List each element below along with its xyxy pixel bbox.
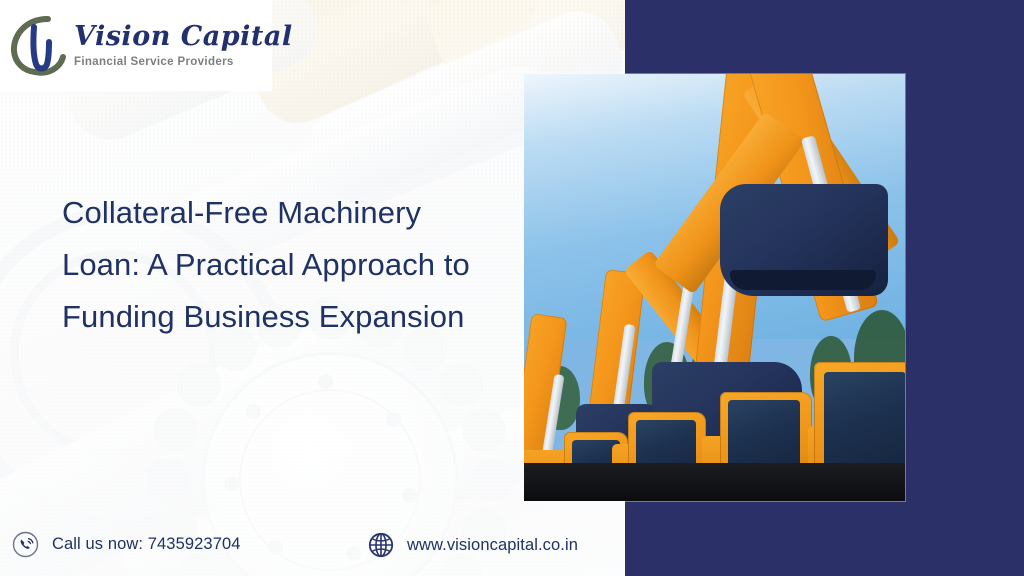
page-title: Collateral-Free Machinery Loan: A Practi… bbox=[62, 187, 502, 343]
brand-logo[interactable]: Vision Capital Financial Service Provide… bbox=[0, 0, 272, 91]
globe-icon bbox=[368, 532, 394, 558]
brand-tagline: Financial Service Providers bbox=[74, 56, 293, 68]
phone-label: Call us now: 7435923704 bbox=[52, 535, 241, 554]
arc-swoosh-logo-icon bbox=[8, 13, 70, 79]
contact-phone[interactable]: Call us now: 7435923704 bbox=[12, 531, 241, 558]
excavator-photo bbox=[524, 74, 905, 501]
contact-website[interactable]: www.visioncapital.co.in bbox=[368, 532, 578, 558]
phone-icon bbox=[12, 531, 39, 558]
website-label: www.visioncapital.co.in bbox=[407, 536, 578, 555]
brand-name: Vision Capital bbox=[74, 23, 293, 51]
promo-banner: Vision Capital Financial Service Provide… bbox=[0, 0, 1024, 576]
